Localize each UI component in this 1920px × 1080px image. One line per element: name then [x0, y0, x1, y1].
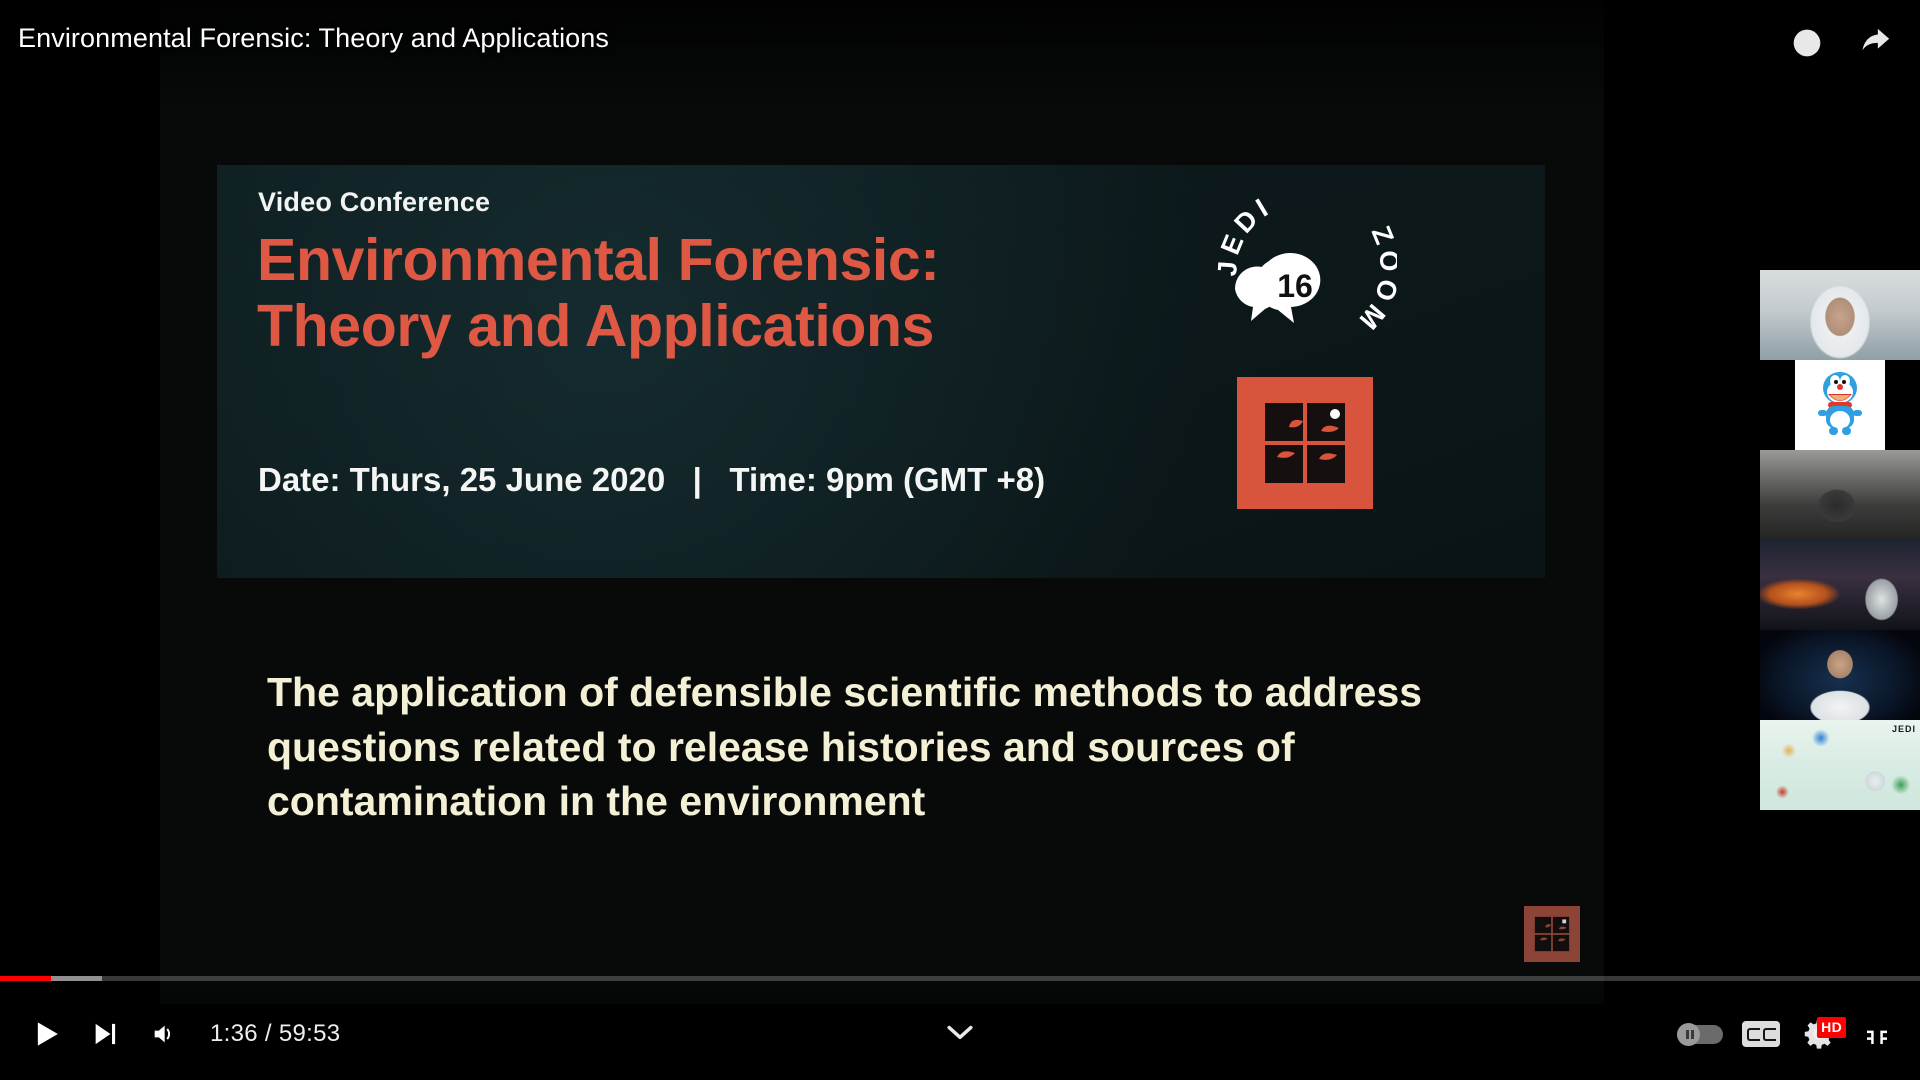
progress-bar[interactable]: [0, 976, 1920, 981]
hd-badge: HD: [1817, 1017, 1846, 1038]
shared-screen-slide: Video Conference Environmental Forensic:…: [160, 0, 1604, 1004]
svg-text:16: 16: [1277, 268, 1313, 304]
participant-filmstrip[interactable]: JEDI: [1760, 270, 1920, 815]
cc-glyph-c1: [1747, 1028, 1760, 1041]
orange-square-brand-mark: [1237, 377, 1373, 509]
participant-tile-4[interactable]: [1760, 540, 1920, 630]
progress-played: [0, 976, 51, 981]
slide-definition-text: The application of defensible scientific…: [267, 665, 1447, 829]
video-player[interactable]: Video Conference Environmental Forensic:…: [0, 0, 1920, 1080]
participant-tile-6-tag: JEDI: [1892, 724, 1916, 734]
participant-tile-6[interactable]: JEDI: [1760, 720, 1920, 810]
cc-icon: [1742, 1021, 1780, 1047]
participant-tile-1[interactable]: [1760, 270, 1920, 360]
video-stage[interactable]: Video Conference Environmental Forensic:…: [0, 0, 1920, 1080]
pause-icon: [1686, 1030, 1689, 1039]
progress-hover-area[interactable]: [0, 968, 1920, 988]
share-icon[interactable]: [1848, 16, 1902, 70]
player-controls[interactable]: 1:36 / 59:53: [0, 972, 1920, 1080]
banner-title-line-2: Theory and Applications: [257, 293, 1197, 359]
autoplay-toggle[interactable]: [1668, 1005, 1732, 1063]
banner-title-line-1: Environmental Forensic:: [257, 227, 1197, 293]
settings-button[interactable]: HD: [1790, 1005, 1848, 1063]
autoplay-toggle-track: [1677, 1025, 1723, 1044]
play-button[interactable]: [18, 1005, 76, 1063]
video-title[interactable]: Environmental Forensic: Theory and Appli…: [18, 23, 609, 54]
controls-left-group[interactable]: 1:36 / 59:53: [18, 988, 354, 1080]
slide-watermark-logo: [1524, 906, 1580, 962]
top-actions[interactable]: [1780, 16, 1902, 70]
slide-banner-card: Video Conference Environmental Forensic:…: [217, 165, 1545, 578]
banner-date-time: Date: Thurs, 25 June 2020 | Time: 9pm (G…: [258, 461, 1045, 499]
chevron-down-icon[interactable]: [937, 1016, 983, 1050]
banner-eyebrow: Video Conference: [258, 187, 490, 218]
controls-right-group[interactable]: HD: [1668, 988, 1906, 1080]
participant-tile-3[interactable]: [1760, 450, 1920, 540]
captions-button[interactable]: [1732, 1005, 1790, 1063]
doraemon-avatar-icon: [1816, 368, 1864, 442]
autoplay-toggle-knob: [1677, 1023, 1700, 1046]
jedi-zoom-logo: JEDI ZOOM 16: [1217, 185, 1397, 345]
next-button[interactable]: [76, 1005, 134, 1063]
watch-later-icon[interactable]: [1780, 16, 1834, 70]
participant-tile-5[interactable]: [1760, 630, 1920, 720]
exit-fullscreen-button[interactable]: [1848, 1005, 1906, 1063]
svg-text:ZOOM: ZOOM: [1350, 222, 1397, 339]
volume-button[interactable]: [134, 1005, 192, 1063]
participant-tile-2[interactable]: [1760, 360, 1920, 450]
banner-title: Environmental Forensic: Theory and Appli…: [257, 227, 1197, 359]
cc-glyph-c2: [1763, 1028, 1776, 1041]
time-display: 1:36 / 59:53: [192, 1020, 354, 1048]
